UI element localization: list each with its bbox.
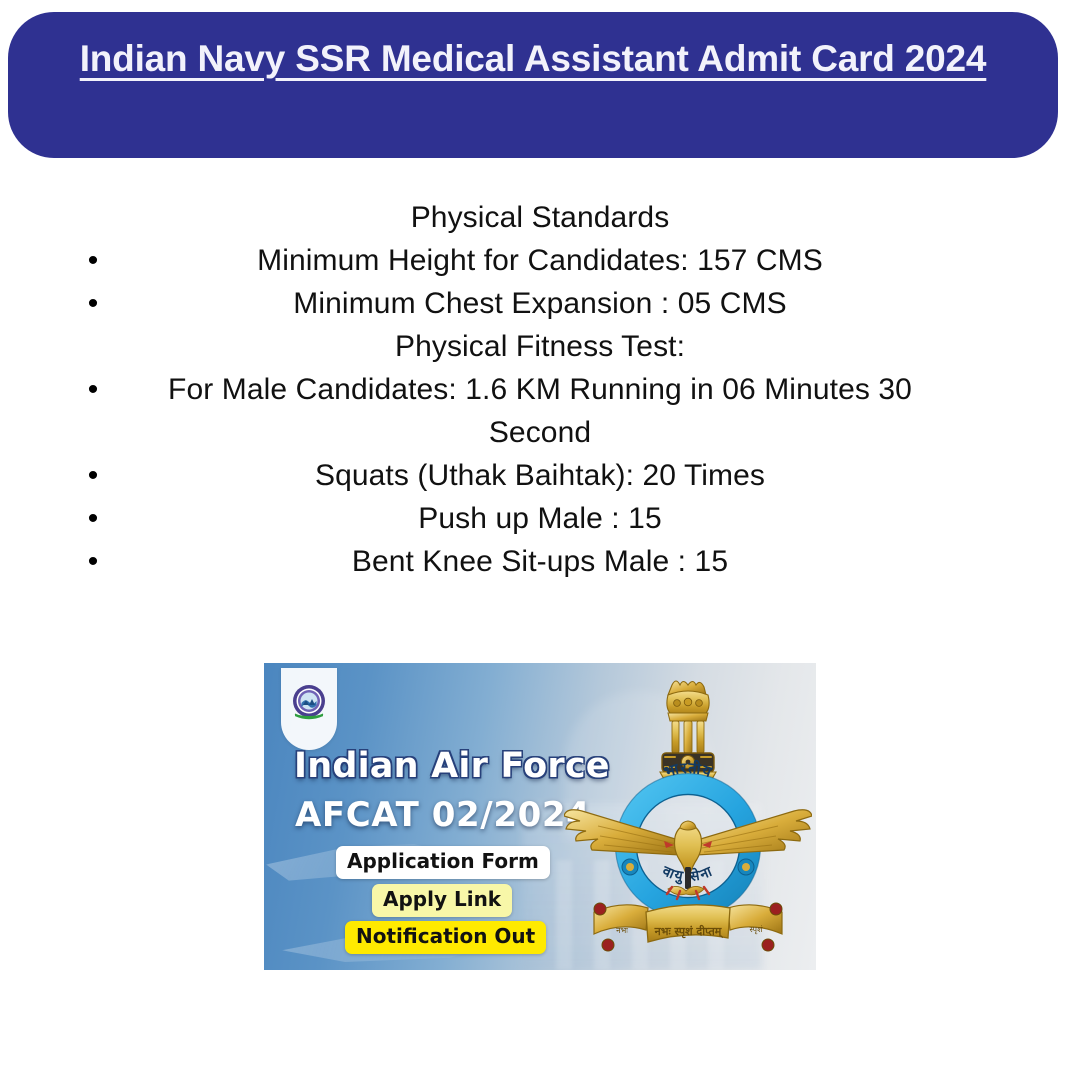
svg-text:स्पृशं: स्पृशं xyxy=(749,925,763,935)
list-item-label: Push up Male : 15 xyxy=(120,497,960,540)
bullet-icon: • xyxy=(86,540,100,583)
list-item: •Bent Knee Sit-ups Male : 15 xyxy=(0,540,1080,583)
org-badge xyxy=(281,668,337,750)
header-banner: Indian Navy SSR Medical Assistant Admit … xyxy=(8,12,1058,158)
list-item-label: Minimum Height for Candidates: 157 CMS xyxy=(120,239,960,282)
indian-air-force-emblem-icon: भारतीय वायु सेना xyxy=(564,671,812,963)
org-seal-logo-icon xyxy=(287,681,331,725)
physical-standards-content: Physical Standards•Minimum Height for Ca… xyxy=(0,196,1080,583)
list-item: •Push up Male : 15 xyxy=(0,497,1080,540)
chip-application-form[interactable]: Application Form xyxy=(336,846,550,879)
section-heading: Physical Fitness Test: xyxy=(0,325,1080,368)
svg-text:नभः: नभः xyxy=(616,926,628,935)
chip-notification-out[interactable]: Notification Out xyxy=(345,921,546,954)
page-title: Indian Navy SSR Medical Assistant Admit … xyxy=(8,38,1058,80)
motto-scroll: नभः स्पृशं दीप्तम् नभः स्पृशं xyxy=(594,903,782,951)
list-item-label: Minimum Chest Expansion : 05 CMS xyxy=(120,282,960,325)
promo-subhead: AFCAT 02/2024 xyxy=(295,795,590,835)
list-item: •Minimum Chest Expansion : 05 CMS xyxy=(0,282,1080,325)
list-item-label: For Male Candidates: 1.6 KM Running in 0… xyxy=(120,368,960,454)
bullet-icon: • xyxy=(86,454,100,497)
list-item: •Squats (Uthak Baihtak): 20 Times xyxy=(0,454,1080,497)
list-item: •For Male Candidates: 1.6 KM Running in … xyxy=(0,368,1080,454)
bullet-icon: • xyxy=(86,239,100,282)
promo-headline: Indian Air Force xyxy=(294,746,610,786)
list-item-label: Squats (Uthak Baihtak): 20 Times xyxy=(120,454,960,497)
eagle xyxy=(564,810,812,899)
list-item-label: Bent Knee Sit-ups Male : 15 xyxy=(120,540,960,583)
svg-text:नभः स्पृशं दीप्तम्: नभः स्पृशं दीप्तम् xyxy=(654,924,724,939)
section-heading: Physical Standards xyxy=(0,196,1080,239)
list-item: •Minimum Height for Candidates: 157 CMS xyxy=(0,239,1080,282)
bullet-icon: • xyxy=(86,497,100,540)
bullet-icon: • xyxy=(86,282,100,325)
afcat-promo-image[interactable]: Indian Air Force AFCAT 02/2024 Applicati… xyxy=(264,663,816,970)
chip-apply-link[interactable]: Apply Link xyxy=(372,884,512,917)
bullet-icon: • xyxy=(86,368,100,411)
